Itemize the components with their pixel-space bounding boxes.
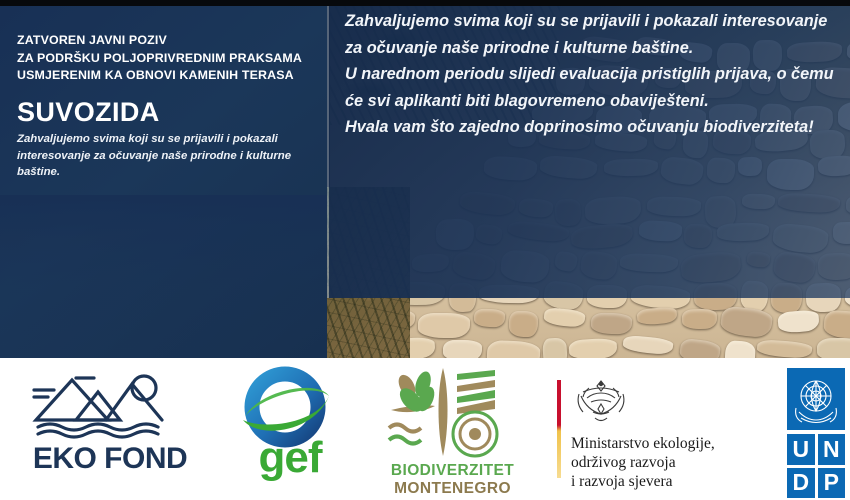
biodiverzitet-label: BIODIVERZITET bbox=[365, 462, 540, 480]
montenegro-coat-of-arms-icon bbox=[573, 378, 629, 430]
logo-eko-fond: EKO FOND bbox=[0, 358, 215, 500]
stone bbox=[486, 340, 540, 360]
page-title: SUVOZIDA bbox=[17, 97, 160, 127]
leaves-waves-circle-icon bbox=[379, 366, 509, 458]
right-paragraph-1: Zahvaljujemo svima koji su se prijavili … bbox=[345, 8, 845, 61]
stone bbox=[757, 339, 813, 359]
ministry-line-1: Ministarstvo ekologije, bbox=[571, 434, 771, 453]
mountains-sun-waves-icon bbox=[32, 372, 182, 440]
stone bbox=[509, 311, 538, 337]
undp-letter-n: N bbox=[818, 434, 846, 465]
stone bbox=[682, 308, 718, 329]
undp-emblem-panel bbox=[787, 368, 845, 430]
undp-letter-u: U bbox=[787, 434, 815, 465]
ministry-line-3: i razvoja sjevera bbox=[571, 472, 771, 491]
left-panel-fade bbox=[0, 195, 327, 360]
headline-line-3: USMJERENIM KA OBNOVI KAMENIH TERASA bbox=[17, 67, 317, 85]
undp-letter-grid: U N D P bbox=[787, 434, 845, 498]
ministry-name: Ministarstvo ekologije, održivog razvoja… bbox=[571, 434, 771, 491]
stone bbox=[443, 340, 482, 360]
stone bbox=[637, 306, 678, 325]
right-paragraph-3: Hvala vam što zajedno doprinosimo očuvan… bbox=[345, 114, 845, 141]
headline: ZATVOREN JAVNI POZIV ZA PODRŠKU POLJOPRI… bbox=[17, 32, 317, 85]
gef-label: gef bbox=[235, 436, 345, 480]
stone bbox=[591, 313, 633, 335]
stone bbox=[418, 313, 470, 338]
logo-ministarstvo: Ministarstvo ekologije, održivog razvoja… bbox=[545, 358, 775, 500]
logo-bar: EKO FOND gef bbox=[0, 358, 850, 500]
eko-fond-label: EKO FOND bbox=[10, 442, 210, 476]
undp-block: U N D P bbox=[787, 368, 845, 498]
stone bbox=[817, 337, 850, 360]
undp-letter-p: P bbox=[818, 468, 846, 499]
logo-gef: gef bbox=[215, 358, 365, 500]
right-paragraph-2: U narednom periodu slijedi evaluacija pr… bbox=[345, 61, 845, 114]
stone bbox=[543, 307, 585, 328]
poster-root: ZATVOREN JAVNI POZIV ZA PODRŠKU POLJOPRI… bbox=[0, 0, 850, 500]
logo-biodiverzitet: BIODIVERZITET MONTENEGRO bbox=[365, 358, 545, 500]
stone bbox=[679, 337, 722, 360]
ministry-color-bar bbox=[557, 380, 561, 478]
right-body-text: Zahvaljujemo svima koji su se prijavili … bbox=[345, 8, 845, 141]
stone bbox=[474, 308, 506, 327]
stone bbox=[569, 337, 618, 360]
top-black-strip bbox=[0, 0, 850, 6]
left-note: Zahvaljujemo svima koji su se prijavili … bbox=[17, 131, 317, 181]
un-emblem-icon bbox=[787, 368, 845, 430]
stone bbox=[777, 309, 820, 333]
montenegro-label: MONTENEGRO bbox=[365, 480, 540, 498]
panel-divider bbox=[327, 5, 329, 298]
headline-line-2: ZA PODRŠKU POLJOPRIVREDNIM PRAKSAMA bbox=[17, 50, 317, 68]
headline-line-1: ZATVOREN JAVNI POZIV bbox=[17, 32, 317, 50]
ministry-line-2: održivog razvoja bbox=[571, 453, 771, 472]
stone bbox=[823, 310, 850, 339]
stone bbox=[542, 337, 568, 360]
undp-letter-d: D bbox=[787, 468, 815, 499]
stone bbox=[720, 306, 773, 339]
logo-undp: U N D P bbox=[775, 358, 850, 500]
stone bbox=[622, 335, 673, 356]
